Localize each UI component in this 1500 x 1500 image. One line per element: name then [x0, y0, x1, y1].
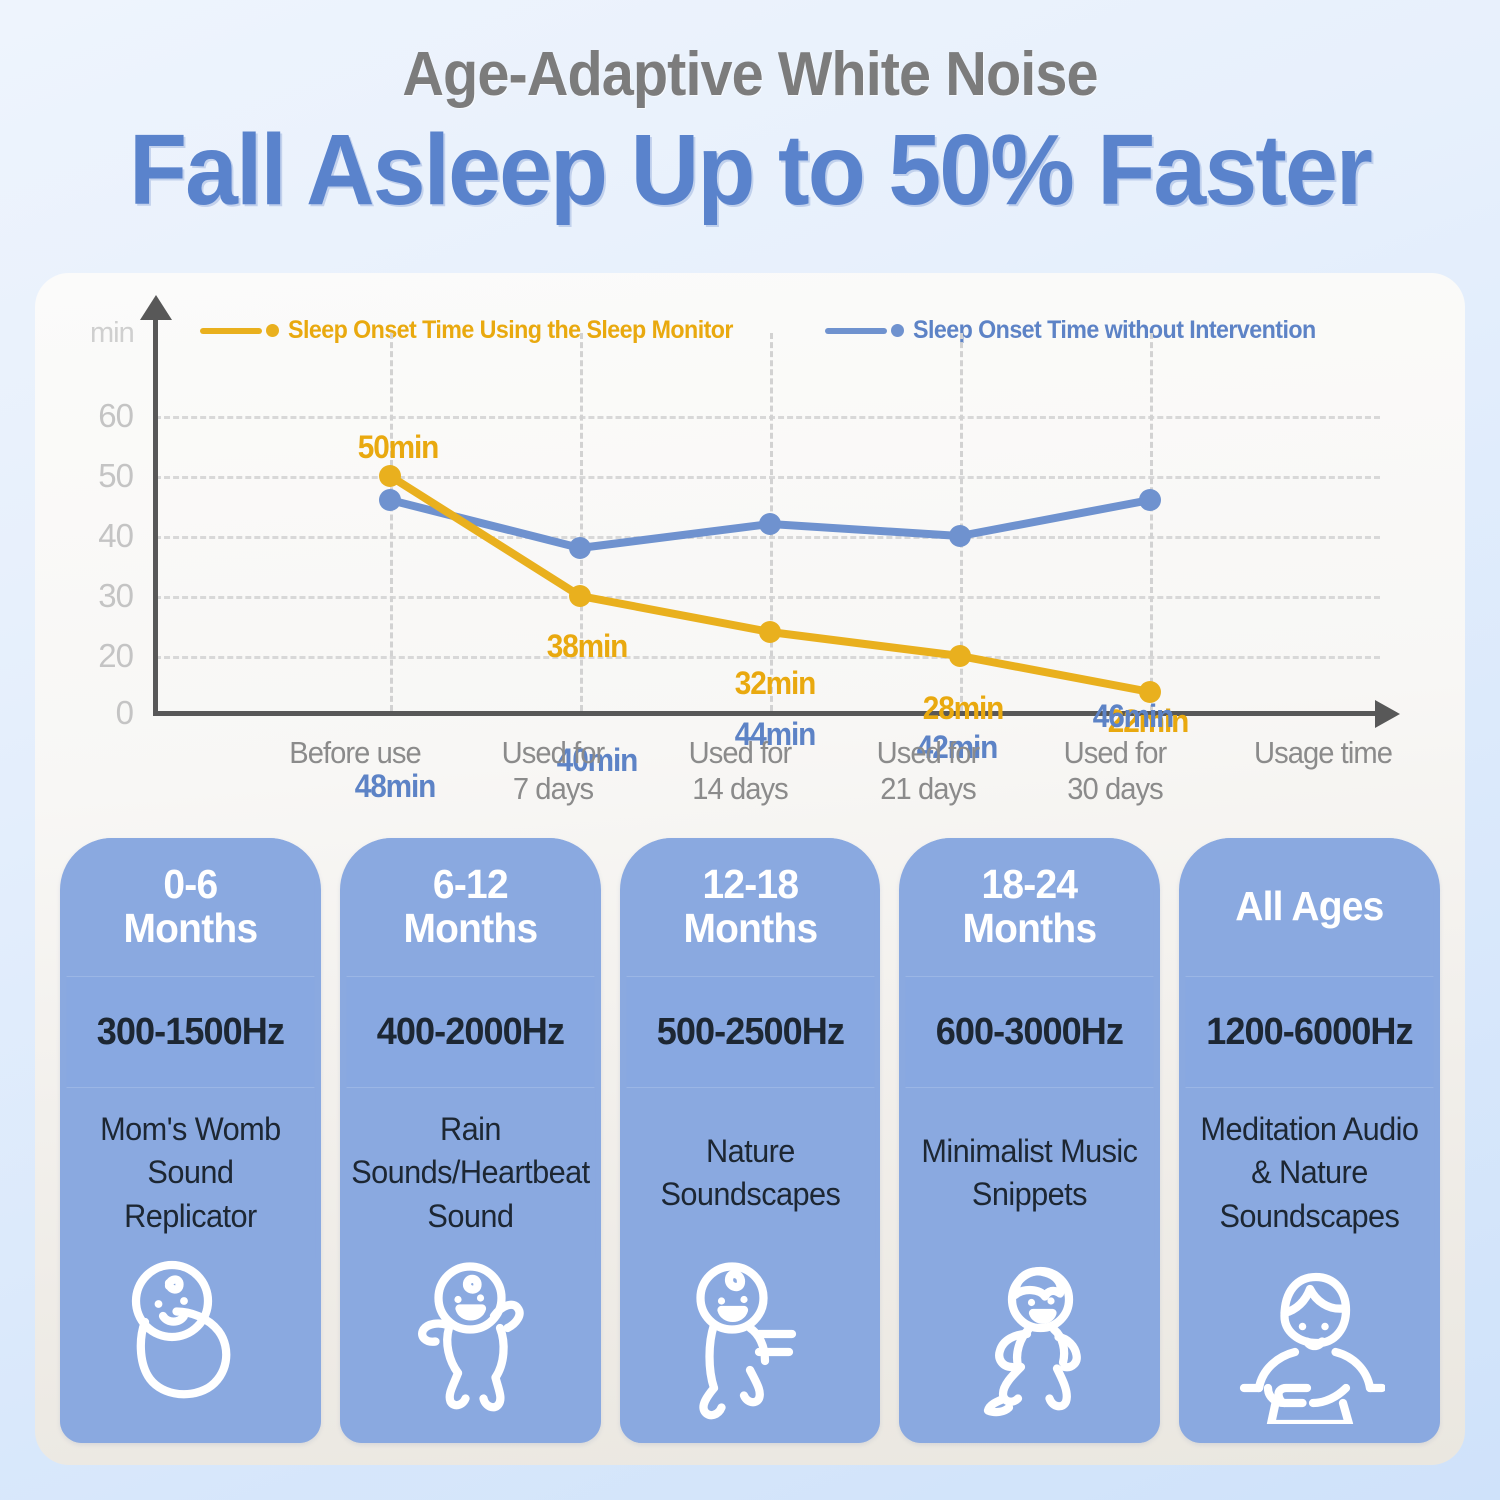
age-card-title: 12-18 Months [626, 838, 874, 976]
age-card-frequency: 600-3000Hz [906, 976, 1154, 1088]
age-card-6-12-months[interactable]: 6-12 Months 400-2000Hz Rain Sounds/Heart… [340, 838, 601, 1443]
age-card-description: Meditation Audio & Nature Soundscapes [1184, 1088, 1434, 1258]
y-tick-40: 40 [71, 517, 133, 555]
age-card-description: Rain Sounds/Heartbeat Sound [345, 1088, 595, 1258]
crawling-baby-icon [620, 1258, 881, 1443]
age-card-frequency: 400-2000Hz [346, 976, 594, 1088]
waving-baby-icon [340, 1258, 601, 1443]
page-subtitle: Age-Adaptive White Noise [53, 44, 1448, 106]
adult-person-icon [1179, 1258, 1440, 1443]
age-card-title: 6-12 Months [346, 838, 594, 976]
x-label-14-days: Used for 14 days [632, 735, 848, 806]
x-label-7-days: Used for 7 days [445, 735, 661, 806]
running-child-icon [899, 1258, 1160, 1443]
x-axis-title: Usage time [1215, 735, 1431, 771]
header: Age-Adaptive White Noise Fall Asleep Up … [0, 0, 1500, 250]
data-label-monitor-2: 32min [735, 665, 815, 702]
age-group-cards: 0-6 Months 300-1500Hz Mom's Womb Sound R… [60, 838, 1440, 1443]
x-label-30-days: Used for 30 days [1007, 735, 1223, 806]
data-label-control-4: 46min [1093, 698, 1173, 735]
age-card-description: Minimalist Music Snippets [905, 1088, 1155, 1258]
sleep-onset-line-chart: Sleep Onset Time Using the Sleep Monitor… [35, 273, 1465, 818]
y-tick-20: 20 [71, 637, 133, 675]
data-label-control-0: 48min [355, 768, 435, 805]
x-label-before-use: Before use [247, 735, 463, 771]
y-tick-30: 30 [71, 577, 133, 615]
swaddled-baby-icon [60, 1258, 321, 1443]
age-card-description: Mom's Womb Sound Replicator [65, 1088, 315, 1258]
page-title: Fall Asleep Up to 50% Faster [38, 120, 1463, 220]
chart-series-paths [155, 333, 1380, 711]
age-card-title: 18-24 Months [906, 838, 1154, 976]
age-card-18-24-months[interactable]: 18-24 Months 600-3000Hz Minimalist Music… [899, 838, 1160, 1443]
age-card-frequency: 1200-6000Hz [1186, 976, 1434, 1088]
age-card-all-ages[interactable]: All Ages 1200-6000Hz Meditation Audio & … [1179, 838, 1440, 1443]
y-axis-tick-labels: 60 50 40 30 20 0 [55, 273, 133, 818]
age-card-description: Nature Soundscapes [625, 1088, 875, 1258]
y-tick-50: 50 [71, 457, 133, 495]
age-card-title: 0-6 Months [67, 838, 315, 976]
series-path-sleep-monitor [390, 476, 1150, 692]
content-panel: Sleep Onset Time Using the Sleep Monitor… [35, 273, 1465, 1465]
y-tick-60: 60 [71, 397, 133, 435]
age-card-frequency: 300-1500Hz [67, 976, 315, 1088]
data-label-monitor-1: 38min [547, 628, 627, 665]
data-label-monitor-3: 28min [923, 690, 1003, 727]
age-card-frequency: 500-2500Hz [626, 976, 874, 1088]
age-card-title: All Ages [1186, 838, 1434, 976]
age-card-12-18-months[interactable]: 12-18 Months 500-2500Hz Nature Soundscap… [620, 838, 881, 1443]
age-card-0-6-months[interactable]: 0-6 Months 300-1500Hz Mom's Womb Sound R… [60, 838, 321, 1443]
y-tick-0: 0 [71, 694, 133, 732]
data-label-monitor-0: 50min [358, 429, 438, 466]
x-label-21-days: Used for 21 days [820, 735, 1036, 806]
